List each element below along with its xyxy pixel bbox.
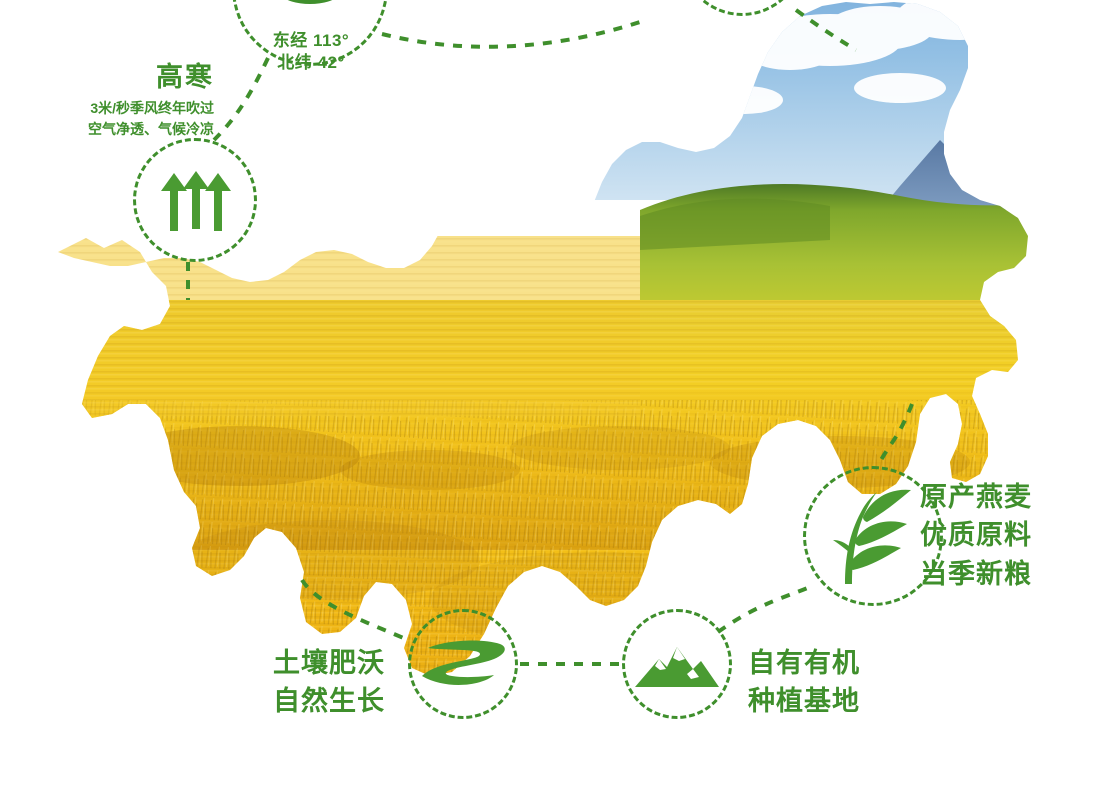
coordinates-text: 东经 113° 北纬 42° [248,30,374,74]
oat-plant-icon [827,484,919,588]
latitude-label: 北纬 42° [248,52,374,74]
cold-subtitle-line1: 3米/秒季风终年吹过 [0,98,214,118]
oat-line1: 原产燕麦 [920,478,1032,516]
base-line2: 种植基地 [748,682,860,720]
base-line1: 自有有机 [748,644,860,682]
oat-line3: 当季新粮 [920,555,1032,593]
base-text-block: 自有有机 种植基地 [748,644,860,721]
mountain-icon [633,637,721,691]
oat-line2: 优质原料 [920,516,1032,554]
cold-title: 高寒 [0,62,214,92]
oat-text-block: 原产燕麦 优质原料 当季新粮 [920,478,1032,593]
badge-wind[interactable] [133,138,257,262]
soil-line1: 土壤肥沃 [200,644,385,682]
cold-subtitle-line2: 空气净透、气候冷凉 [0,119,214,139]
location-pin-icon [270,0,350,16]
badge-soil[interactable] [408,609,518,719]
soil-line2: 自然生长 [200,682,385,720]
cold-text-block: 高寒 3米/秒季风终年吹过 空气净透、气候冷凉 [0,62,214,139]
longitude-label: 东经 113° [248,30,374,52]
soil-text-block: 土壤肥沃 自然生长 [200,644,385,721]
badge-base[interactable] [622,609,732,719]
river-icon [420,636,506,692]
infographic-canvas: 东经 113° 北纬 42° 高寒 3米/秒季风终年吹过 空气净透、气候冷凉 [0,0,1100,796]
wind-arrows-icon [159,169,231,231]
